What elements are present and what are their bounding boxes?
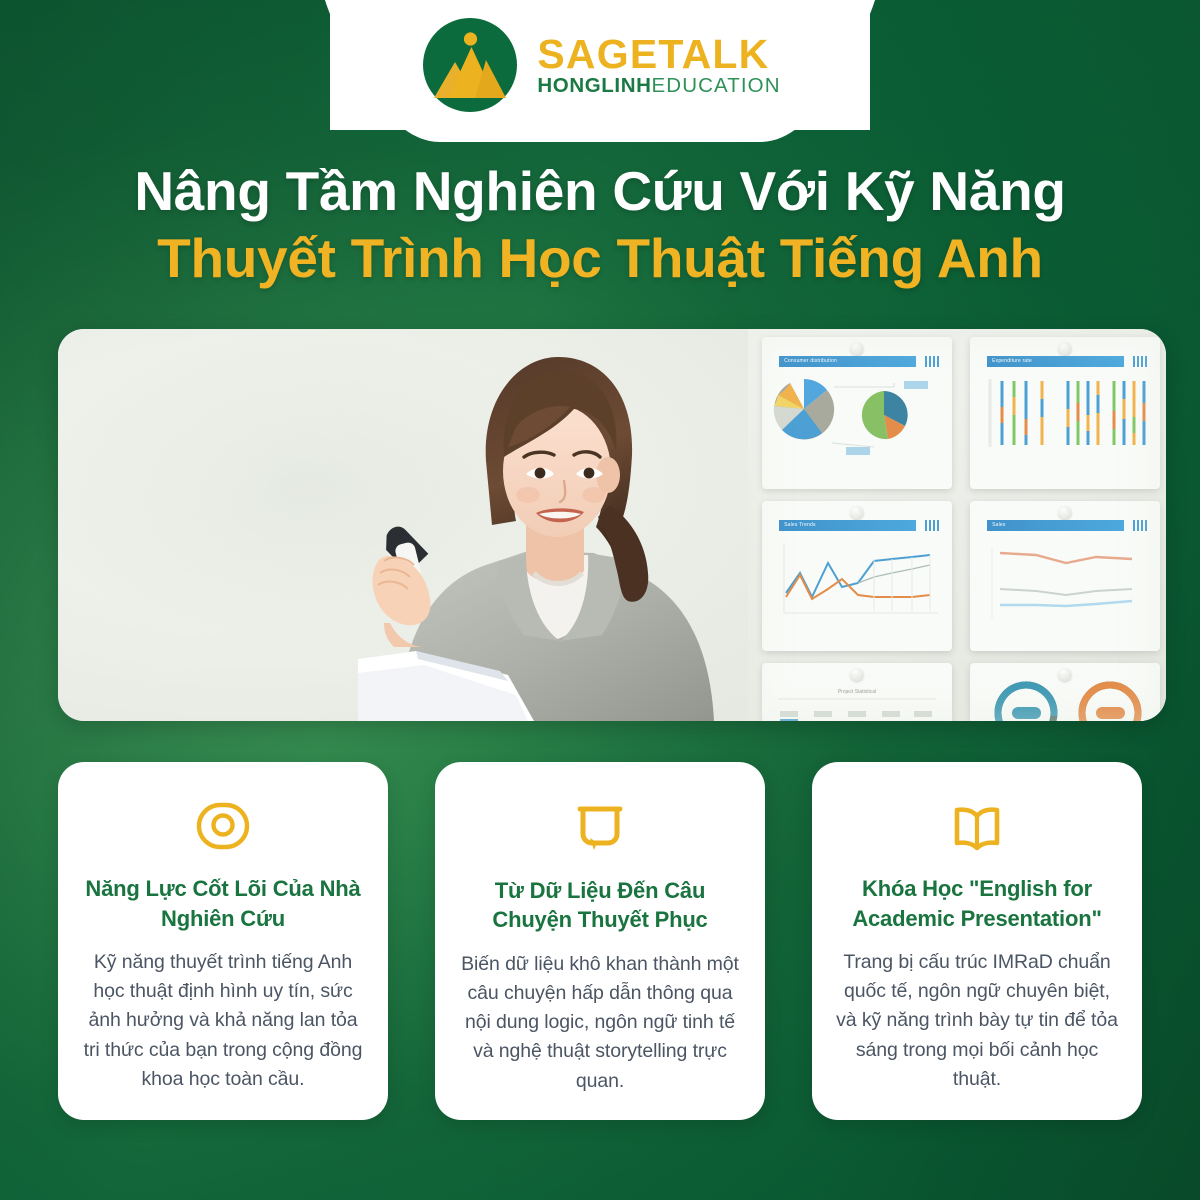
wall-chart-project-statistical: Project Statistical — [762, 663, 952, 721]
feature-card[interactable]: Từ Dữ Liệu Đến Câu Chuyện Thuyết Phục Bi… — [435, 762, 765, 1120]
headline: Nâng Tầm Nghiên Cứu Với Kỹ Năng Thuyết T… — [0, 160, 1200, 289]
hero-photo: Consumer distribution — [58, 329, 1166, 721]
brand-name-bottom: HONGLINHEDUCATION — [537, 75, 780, 98]
wall-chart-expenditure-rate: Expenditure rate — [970, 337, 1160, 489]
feature-card[interactable]: Năng Lực Cốt Lõi Của Nhà Nghiên Cứu Kỹ n… — [58, 762, 388, 1120]
feature-card-body: Kỹ năng thuyết trình tiếng Anh học thuật… — [80, 948, 366, 1094]
feature-card-title: Từ Dữ Liệu Đến Câu Chuyện Thuyết Phục — [457, 876, 743, 935]
feature-card-title: Khóa Học "English for Academic Presentat… — [834, 874, 1120, 933]
hand-with-marker — [350, 487, 470, 647]
feature-card[interactable]: Khóa Học "English for Academic Presentat… — [812, 762, 1142, 1120]
wall-chart-consumer-distribution: Consumer distribution — [762, 337, 952, 489]
feature-card-body: Biến dữ liệu khô khan thành một câu chuy… — [457, 950, 743, 1096]
brand-name-bottom-bold: HONGLINH — [537, 74, 651, 97]
wall-chart-donuts — [970, 663, 1160, 721]
chart-wall: Consumer distribution — [748, 329, 1166, 721]
feature-cards: Năng Lực Cốt Lõi Của Nhà Nghiên Cứu Kỹ n… — [58, 762, 1142, 1120]
headline-line-2: Thuyết Trình Học Thuật Tiếng Anh — [0, 227, 1200, 290]
brand-logo: SAGETALK HONGLINHEDUCATION — [0, 0, 1200, 130]
headline-line-1: Nâng Tầm Nghiên Cứu Với Kỹ Năng — [0, 160, 1200, 223]
brand-name-bottom-light: EDUCATION — [652, 74, 781, 97]
wall-chart-sales-trends: Sales Trends — [762, 501, 952, 651]
wall-chart-sales: Sales — [970, 501, 1160, 651]
open-book-icon — [948, 798, 1006, 856]
feature-card-title: Năng Lực Cốt Lõi Của Nhà Nghiên Cứu — [80, 874, 366, 933]
poster-root: SAGETALK HONGLINHEDUCATION Nâng Tầm Nghi… — [0, 0, 1200, 1200]
mountain-sun-logo-icon — [419, 14, 521, 116]
target-ring-icon — [194, 798, 252, 856]
brand-name-top: SAGETALK — [537, 33, 780, 75]
svg-text:Project Statistical: Project Statistical — [838, 689, 876, 695]
feature-card-body: Trang bị cấu trúc IMRaD chuẩn quốc tế, n… — [834, 948, 1120, 1094]
presentation-board-icon — [570, 798, 630, 858]
brand-wordmark: SAGETALK HONGLINHEDUCATION — [537, 33, 780, 98]
